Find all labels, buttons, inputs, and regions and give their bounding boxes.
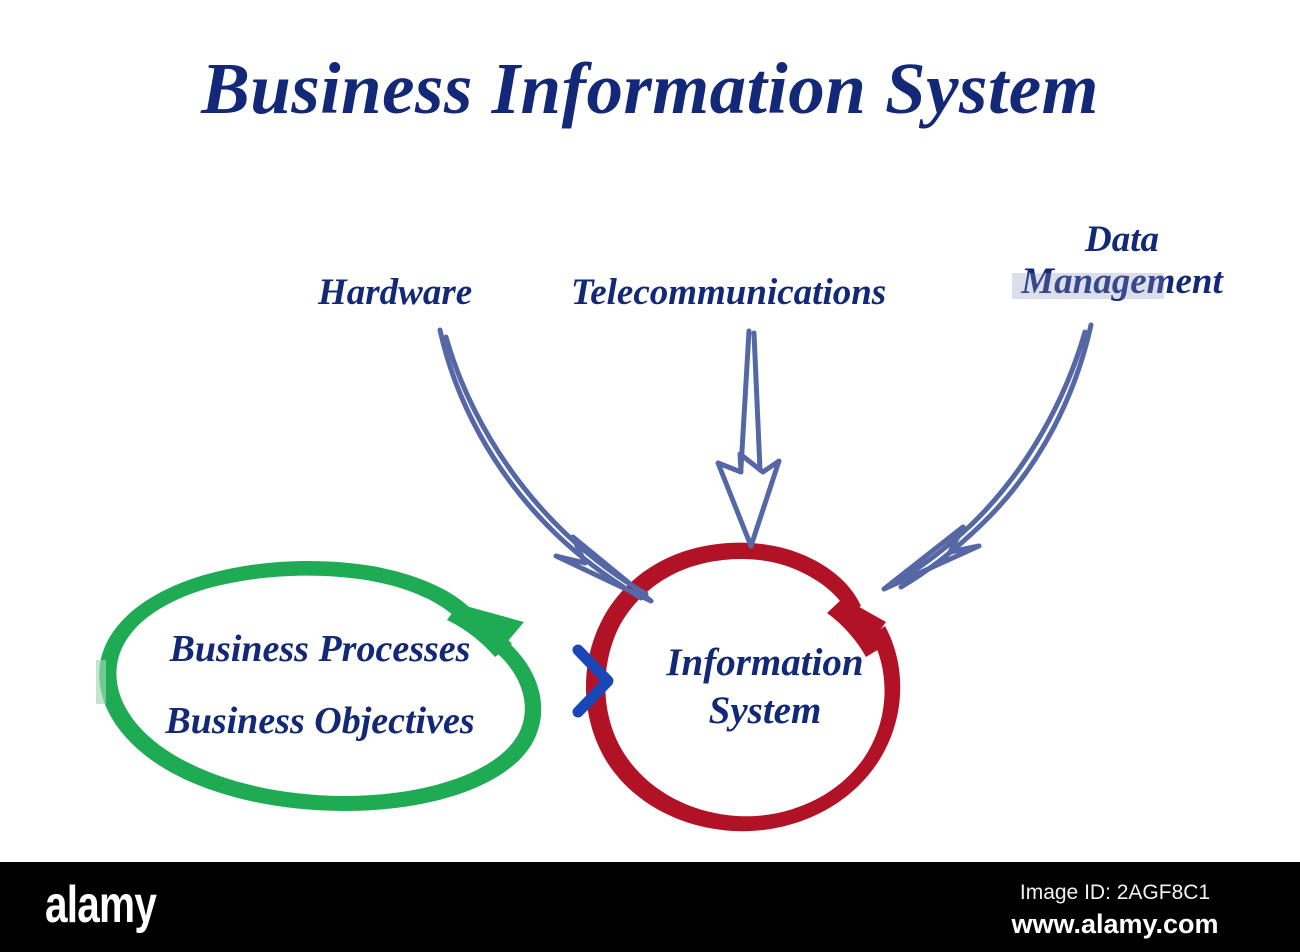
information-system-label-line2: System — [640, 687, 890, 735]
hardware-arrow-shaft-inner — [446, 337, 646, 594]
business-objectives-label: Business Objectives — [110, 702, 530, 740]
telecom-arrow-shaft-right — [754, 333, 760, 470]
business-goals-label: Business Processes Business Objectives — [110, 630, 530, 740]
hardware-arrow-shaft-outer — [440, 330, 641, 598]
ellipse-highlight-artifact — [96, 660, 106, 704]
page-title: Business Information System — [0, 52, 1300, 125]
watermark-url: www.alamy.com — [965, 908, 1265, 940]
watermark-image-id: Image ID: 2AGF8C1 — [965, 880, 1265, 906]
diagram-canvas: Business Information System Hardware Tel… — [0, 0, 1300, 862]
data-management-arrow — [884, 325, 1091, 589]
label-data-management-line1: Data — [1085, 219, 1159, 260]
diagram-page: Business Information System Hardware Tel… — [0, 0, 1300, 952]
label-hardware: Hardware — [318, 272, 472, 314]
label-data-management: Data Management — [1004, 219, 1240, 303]
telecom-arrowhead — [718, 454, 779, 546]
hardware-arrow — [440, 330, 651, 601]
alamy-logo: alamy — [45, 879, 156, 931]
datamgmt-arrow-shaft-outer — [901, 325, 1091, 587]
alamy-watermark-bar: alamy Image ID: 2AGF8C1 www.alamy.com — [0, 862, 1300, 952]
datamgmt-arrow-shaft-inner — [894, 332, 1085, 583]
telecommunications-arrow — [718, 331, 779, 546]
business-processes-label: Business Processes — [110, 630, 530, 668]
label-data-management-line2: Management — [1004, 261, 1240, 303]
telecom-arrow-shaft-left — [741, 331, 749, 468]
label-telecommunications: Telecommunications — [571, 272, 886, 314]
information-system-label-line1: Information — [640, 639, 890, 687]
information-system-label: Information System — [640, 639, 890, 734]
